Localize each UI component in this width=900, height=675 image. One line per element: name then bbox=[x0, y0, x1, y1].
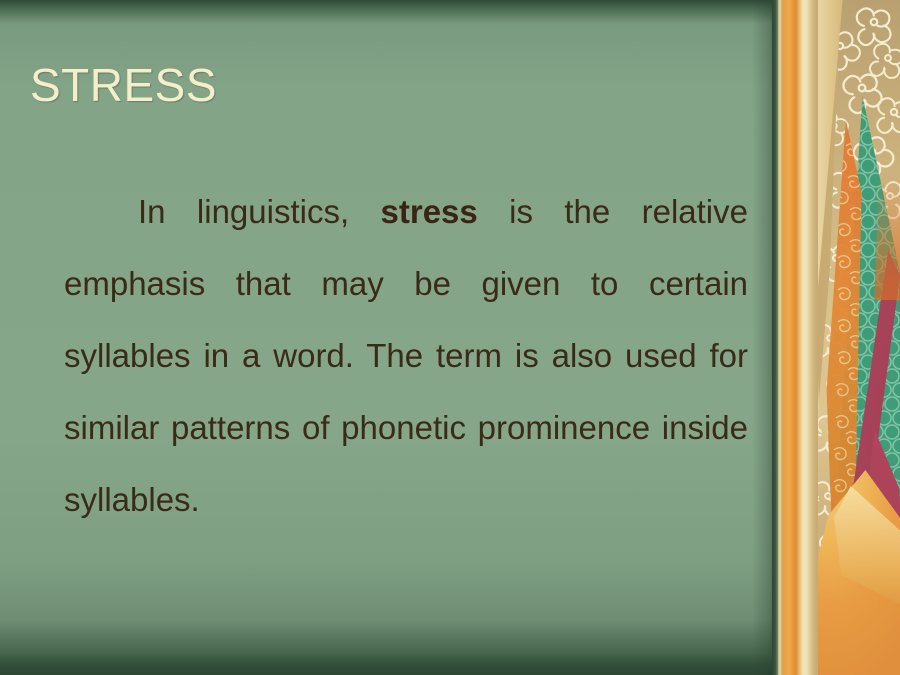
presentation-slide: STRESS In linguistics, stress is the rel… bbox=[0, 0, 900, 675]
body-segment-tail: is the relative emphasis that may be giv… bbox=[64, 193, 748, 518]
body-segment-emphasis: stress bbox=[381, 193, 478, 230]
slide-body-text: In linguistics, stress is the relative e… bbox=[64, 176, 748, 608]
slide-title: STRESS bbox=[30, 58, 730, 112]
floral-ribbon-border bbox=[772, 0, 900, 675]
body-segment-lead: In linguistics, bbox=[138, 193, 381, 230]
border-inner-rail bbox=[772, 0, 778, 675]
gold-stripe-bundle bbox=[772, 0, 818, 675]
